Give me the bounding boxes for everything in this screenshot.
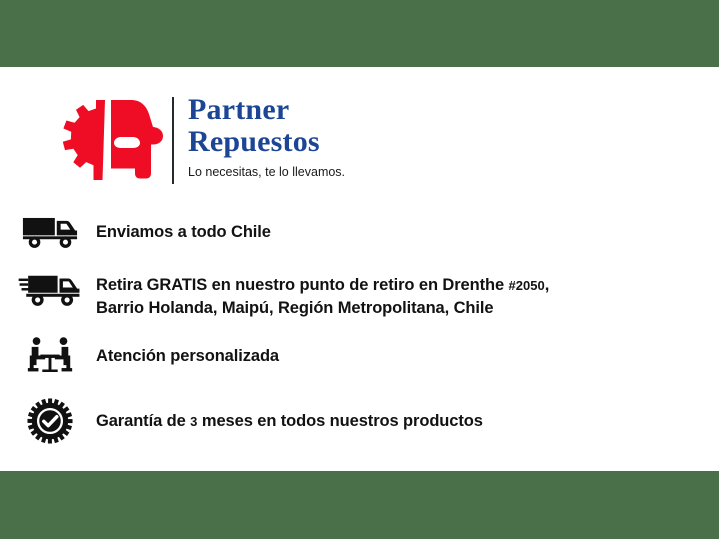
top-green-band [0, 0, 719, 67]
bottom-green-band [0, 471, 719, 539]
brand-wordmark: Partner Repuestos Lo necesitas, te lo ll… [188, 94, 478, 179]
people-at-table-icon [18, 336, 82, 377]
moving-truck-icon [18, 270, 82, 308]
brand-logo-block: Partner Repuestos Lo necesitas, te lo ll… [55, 94, 475, 190]
warranty-after: meses en todos nuestros productos [197, 412, 482, 430]
feature-text-warranty: Garantía de 3 meses en todos nuestros pr… [82, 398, 708, 433]
warranty-before: Garantía de [96, 412, 190, 430]
pickup-street-number: #2050 [509, 278, 545, 293]
feature-text-pickup: Retira GRATIS en nuestro punto de retiro… [82, 270, 708, 319]
brand-name-line1: Partner [188, 94, 478, 126]
brand-tagline: Lo necesitas, te lo llevamos. [188, 165, 478, 179]
feature-text-attention: Atención personalizada [82, 336, 708, 367]
feature-row-attention: Atención personalizada [18, 336, 708, 377]
logo-divider [172, 97, 174, 184]
brand-name-line2: Repuestos [188, 126, 478, 158]
verified-badge-icon [18, 398, 82, 444]
pickup-line1-before: Retira GRATIS en nuestro punto de retiro… [96, 276, 509, 294]
feature-text-shipping: Enviamos a todo Chile [82, 214, 708, 243]
pickup-line2: Barrio Holanda, Maipú, Región Metropolit… [96, 299, 493, 317]
feature-row-warranty: Garantía de 3 meses en todos nuestros pr… [18, 398, 708, 444]
delivery-truck-icon [18, 214, 82, 249]
pickup-line1-after: , [545, 276, 549, 294]
gear-car-logo-icon [55, 96, 167, 184]
promo-banner: Partner Repuestos Lo necesitas, te lo ll… [0, 0, 719, 539]
feature-row-shipping: Enviamos a todo Chile [18, 214, 708, 249]
feature-row-pickup: Retira GRATIS en nuestro punto de retiro… [18, 270, 708, 319]
